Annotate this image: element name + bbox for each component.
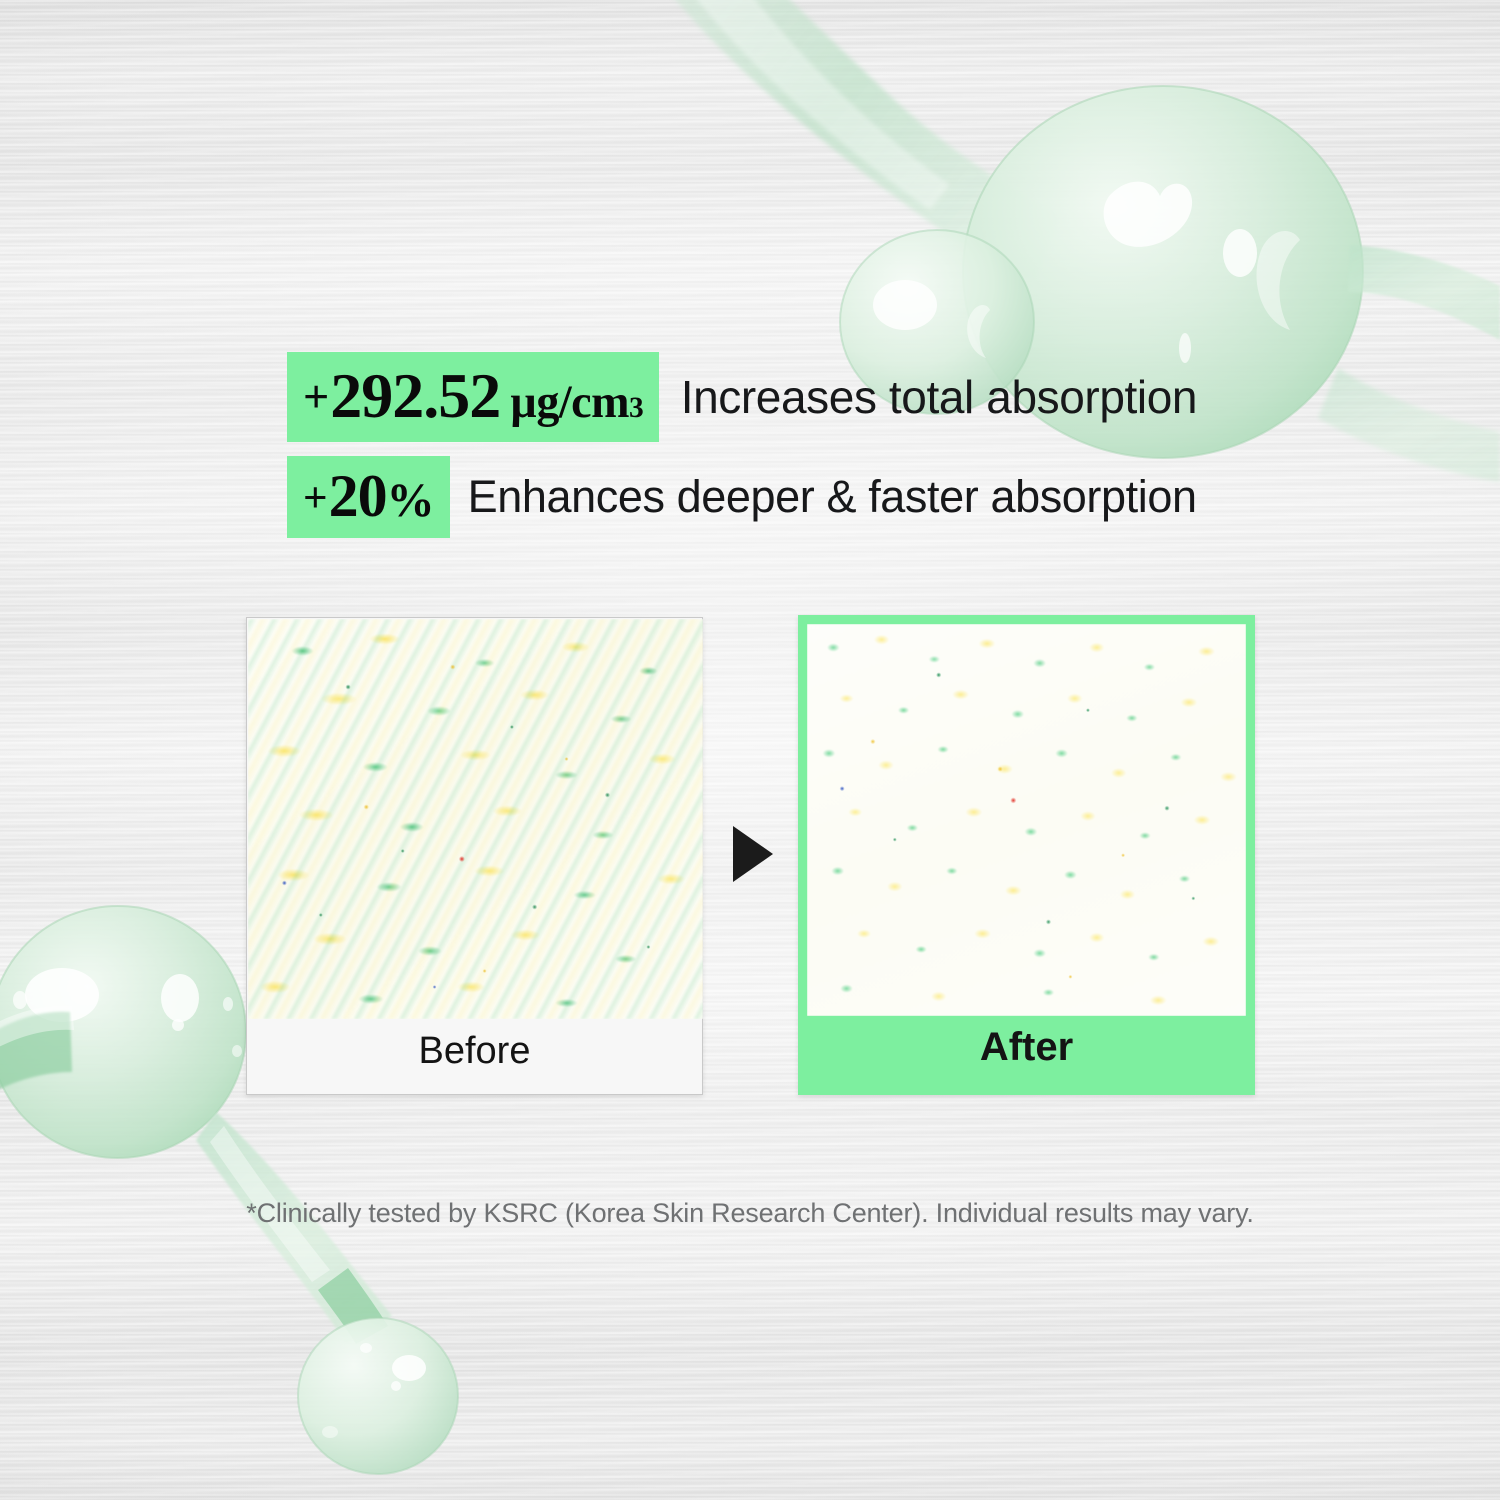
before-fluorescence-dots	[248, 619, 703, 1019]
play-triangle-right-icon	[733, 826, 773, 882]
stats-block: +292.52µg/cm3 Increases total absorption…	[287, 352, 1197, 552]
before-skin-image	[248, 619, 703, 1019]
stat-badge-20pct: +20%	[287, 456, 450, 538]
after-panel: After	[798, 615, 1255, 1095]
after-fluorescence-dots	[807, 624, 1246, 1016]
stat-badge-value: 292.52	[330, 364, 500, 428]
stat-badge-value-2: 20	[329, 466, 387, 526]
stat-badge-292: +292.52µg/cm3	[287, 352, 659, 442]
before-label: Before	[247, 1030, 702, 1073]
after-label: After	[798, 1025, 1255, 1070]
after-skin-image	[807, 624, 1246, 1016]
stat-row-absorption-total: +292.52µg/cm3 Increases total absorption	[287, 352, 1197, 442]
stat-badge-plus-sign-2: +	[303, 477, 327, 520]
marketing-image-canvas: +292.52µg/cm3 Increases total absorption…	[0, 0, 1500, 1500]
stat-badge-unit: µg/cm	[510, 379, 629, 425]
background-vignette	[0, 0, 1500, 1500]
footnote-disclaimer: *Clinically tested by KSRC (Korea Skin R…	[0, 1198, 1500, 1229]
stat-caption-deeper-faster: Enhances deeper & faster absorption	[468, 471, 1197, 523]
stat-badge-percent-sign: %	[387, 477, 434, 525]
stat-row-absorption-speed: +20% Enhances deeper & faster absorption	[287, 456, 1197, 538]
stat-badge-plus-sign: +	[303, 374, 328, 420]
stat-caption-total-absorption: Increases total absorption	[681, 370, 1197, 424]
before-panel: Before	[246, 617, 703, 1095]
